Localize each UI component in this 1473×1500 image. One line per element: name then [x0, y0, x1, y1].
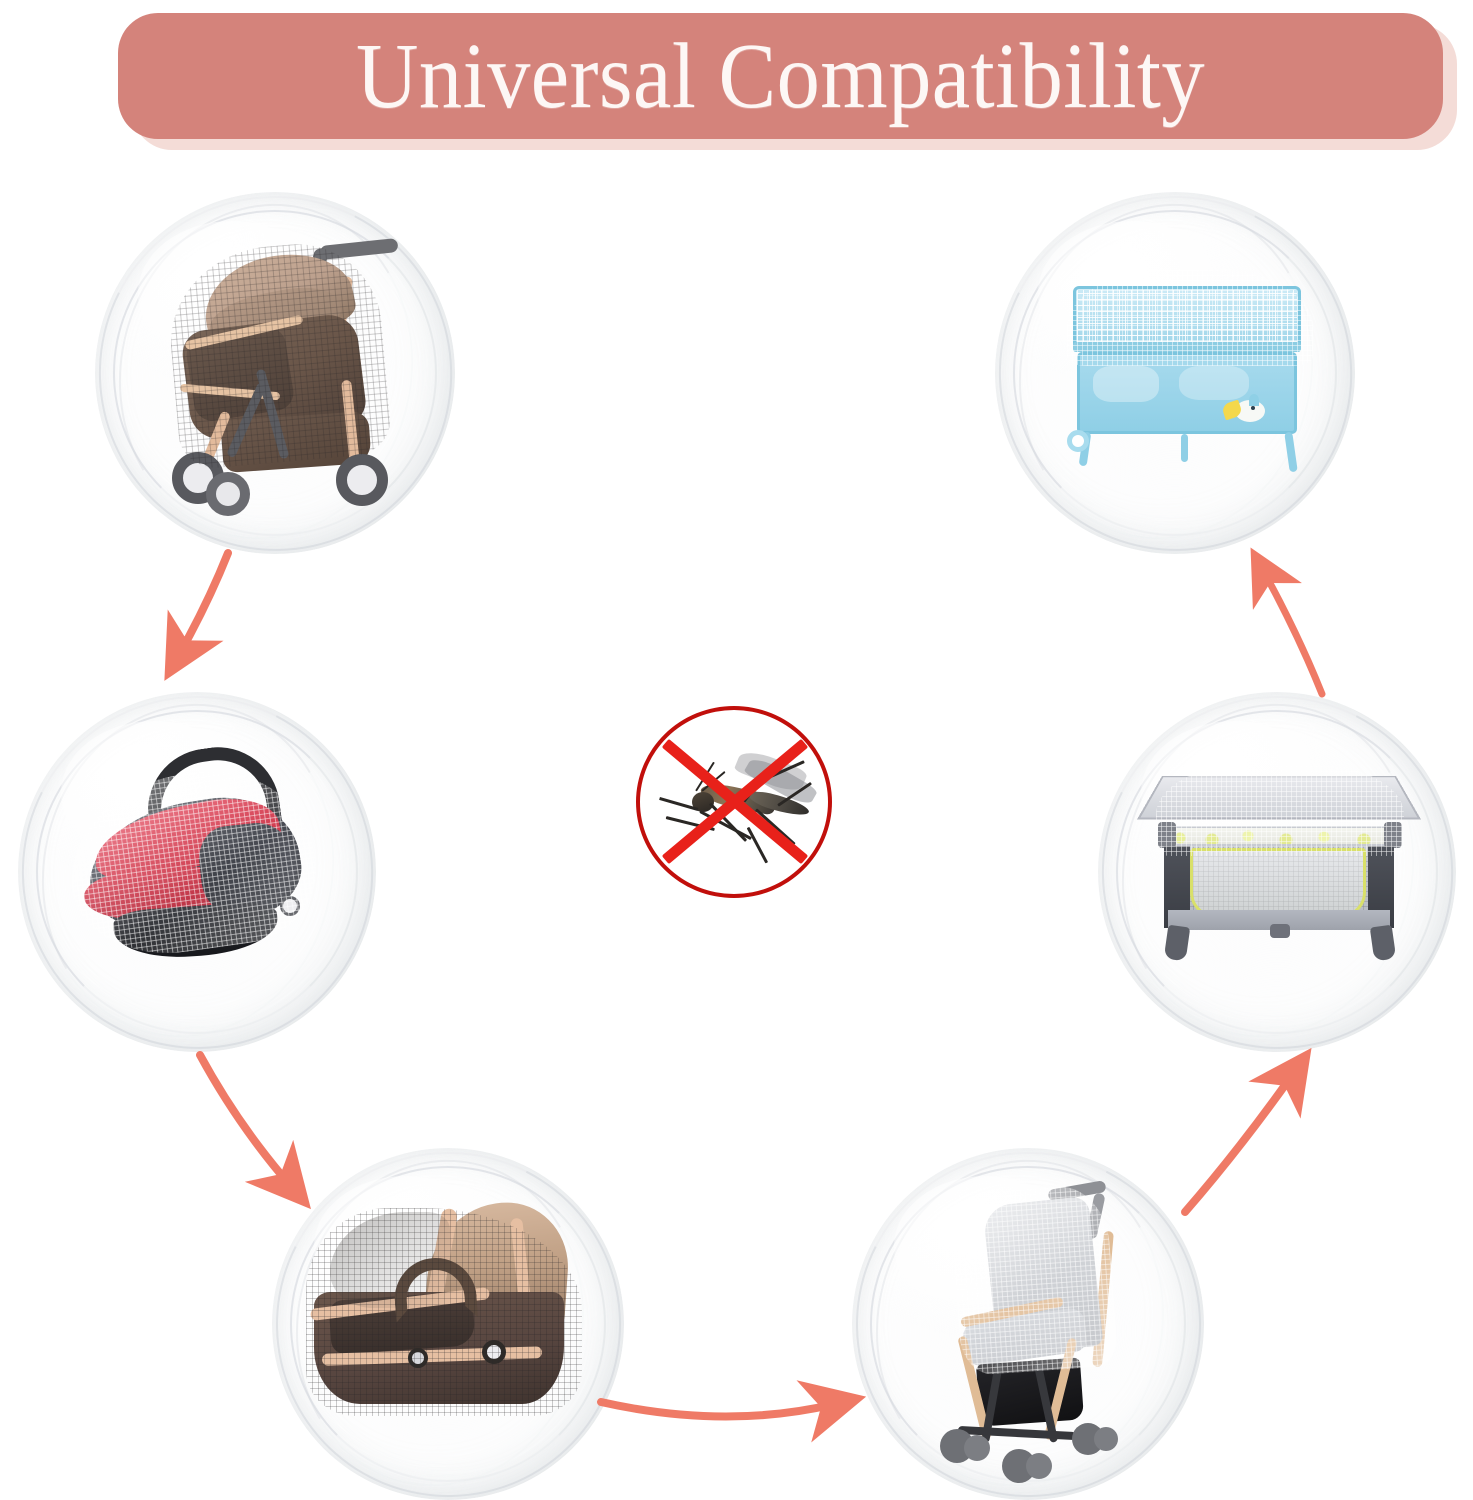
bubble-highlight-arc-secondary — [88, 176, 444, 566]
bubble-playpen — [1098, 692, 1456, 1052]
product-bassinet — [300, 1200, 600, 1434]
no-mosquito-symbol — [628, 700, 850, 900]
infographic-page: Universal Compatibility — [0, 0, 1473, 1500]
mosquito-net-overlay — [950, 1184, 1118, 1376]
product-travel-crib — [1063, 280, 1321, 480]
product-umbrella-stroller — [930, 1185, 1150, 1485]
bubble-highlight-arc — [811, 1107, 1246, 1500]
bubble-bassinet — [272, 1148, 624, 1500]
arrow-carseat-to-bassinet — [180, 1045, 330, 1220]
title-banner: Universal Compatibility — [118, 13, 1443, 139]
bubble-highlight-arc-secondary — [988, 176, 1344, 566]
bubble-highlight-arc — [952, 150, 1397, 596]
arrow-bassinet-to-umbrella — [585, 1372, 885, 1452]
mosquito-net-overlay — [1067, 270, 1313, 366]
mosquito-net-overlay — [1156, 766, 1404, 856]
bubble-highlight-arc-secondary — [846, 1132, 1194, 1500]
mosquito-net-overlay — [306, 1208, 582, 1416]
bubble-travel-crib — [995, 192, 1355, 554]
bubble-full-size-stroller — [95, 192, 455, 554]
mosquito-net-overlay — [59, 758, 325, 966]
product-playpen — [1156, 772, 1406, 972]
arrow-stroller-to-carseat — [150, 545, 290, 685]
bubble-highlight-arc — [1056, 650, 1473, 1094]
arrow-playpen-to-travelcrib — [1228, 548, 1358, 703]
product-infant-car-seat — [50, 740, 338, 982]
bubble-highlight-arc-secondary — [1091, 676, 1445, 1064]
mosquito-net-overlay — [163, 237, 393, 471]
bubble-highlight-arc — [231, 1107, 666, 1500]
bubble-highlight-arc — [52, 150, 497, 596]
bubble-highlight-arc-secondary — [266, 1132, 614, 1500]
product-full-size-stroller — [150, 240, 412, 512]
page-title: Universal Compatibility — [356, 30, 1205, 123]
arrow-umbrella-to-playpen — [1175, 1040, 1335, 1225]
bubble-highlight-arc-secondary — [11, 676, 365, 1064]
bubble-highlight-arc — [0, 650, 418, 1094]
bubble-infant-car-seat — [18, 692, 376, 1052]
bubble-umbrella-stroller — [852, 1148, 1204, 1500]
